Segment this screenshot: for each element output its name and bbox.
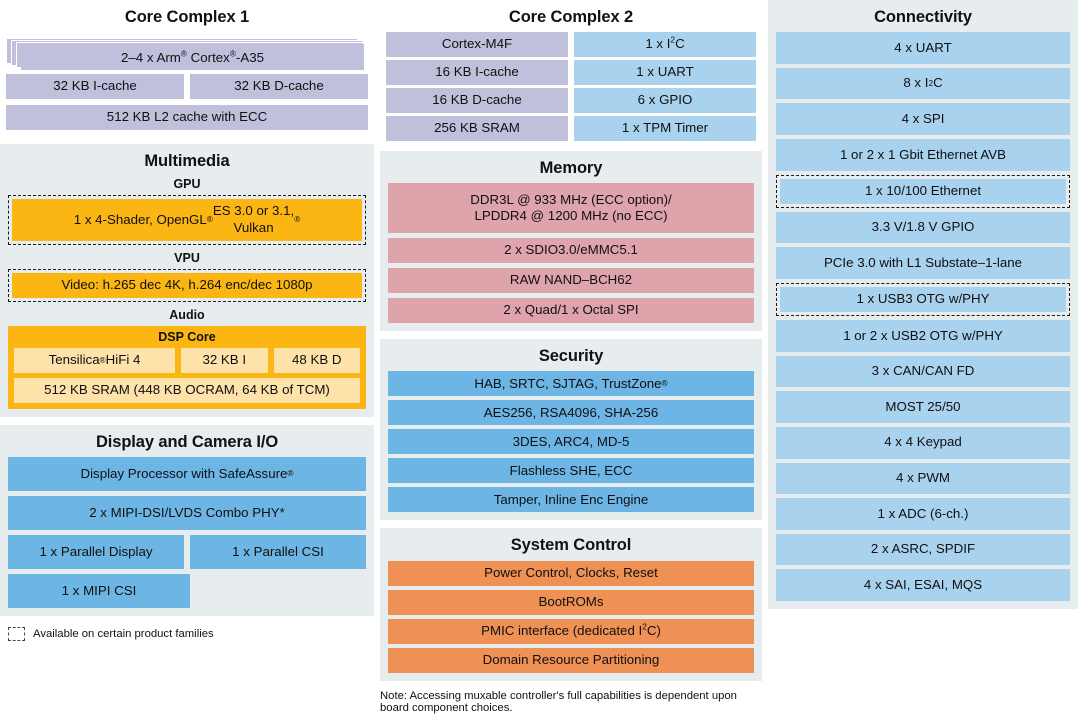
- block-label: 1 x I2C: [645, 36, 684, 53]
- dashed-wrapper-connectivity-4: 1 x 10/100 Ethernet: [776, 175, 1070, 208]
- block-bootroms: BootROMs: [388, 590, 754, 615]
- panel-title-core-complex-1: Core Complex 1: [6, 5, 368, 32]
- block-connectivity-2: 4 x SPI: [776, 103, 1070, 135]
- panel-multimedia: Multimedia GPU 1 x 4-Shader, OpenGL® ES …: [0, 144, 374, 417]
- ddr-line-2: LPDDR4 @ 1200 MHz (no ECC): [474, 208, 667, 225]
- block-cc2-uart: 1 x UART: [574, 60, 756, 85]
- panel-title-multimedia: Multimedia: [8, 149, 366, 176]
- panel-title-connectivity: Connectivity: [776, 5, 1070, 32]
- block-d-cache: 32 KB D-cache: [190, 74, 368, 99]
- block-connectivity-7: 1 x USB3 OTG w/PHY: [780, 287, 1066, 312]
- subtitle-vpu: VPU: [8, 245, 366, 269]
- block-mipi-csi: 1 x MIPI CSI: [8, 574, 190, 608]
- block-3des-arc4-md5: 3DES, ARC4, MD-5: [388, 429, 754, 454]
- dashed-wrapper-gpu: 1 x 4-Shader, OpenGL® ES 3.0 or 3.1,Vulk…: [8, 195, 366, 245]
- block-tamper-inline-enc: Tamper, Inline Enc Engine: [388, 487, 754, 512]
- block-connectivity-9: 3 x CAN/CAN FD: [776, 356, 1070, 388]
- block-connectivity-3: 1 or 2 x 1 Gbit Ethernet AVB: [776, 139, 1070, 171]
- panel-core-complex-1: Core Complex 1 2–4 x Arm® Cortex®-A35 32…: [0, 0, 374, 136]
- block-label: 2–4 x Arm® Cortex®-A35: [121, 50, 264, 65]
- connectivity-block-list: 4 x UART8 x I2C4 x SPI1 or 2 x 1 Gbit Et…: [776, 32, 1070, 601]
- block-cc2-sram: 256 KB SRAM: [386, 116, 568, 141]
- block-dsp-i-cache: 32 KB I: [181, 348, 268, 373]
- block-raw-nand: RAW NAND–BCH62: [388, 268, 754, 293]
- dashed-legend-icon: [8, 627, 25, 641]
- panel-system-control: System Control Power Control, Clocks, Re…: [380, 528, 762, 680]
- block-domain-resource-partitioning: Domain Resource Partitioning: [388, 648, 754, 673]
- block-flashless-she: Flashless SHE, ECC: [388, 458, 754, 483]
- subtitle-audio: Audio: [8, 302, 366, 326]
- block-cc2-i-cache: 16 KB I-cache: [386, 60, 568, 85]
- block-connectivity-1: 8 x I2C: [776, 68, 1070, 100]
- block-connectivity-15: 4 x SAI, ESAI, MQS: [776, 569, 1070, 601]
- block-cc2-gpio: 6 x GPIO: [574, 88, 756, 113]
- footer-legend: Available on certain product families: [0, 624, 374, 641]
- block-dsp-sram: 512 KB SRAM (448 KB OCRAM, 64 KB of TCM): [14, 378, 360, 403]
- panel-title-core-complex-2: Core Complex 2: [386, 5, 756, 32]
- panel-display-camera-io: Display and Camera I/O Display Processor…: [0, 425, 374, 616]
- block-diagram: Core Complex 1 2–4 x Arm® Cortex®-A35 32…: [0, 0, 1080, 641]
- block-pmic-interface: PMIC interface (dedicated I2C): [388, 619, 754, 644]
- group-dsp-core: DSP Core Tensilica® HiFi 4 32 KB I 48 KB…: [8, 326, 366, 410]
- block-tensilica-hifi4: Tensilica® HiFi 4: [14, 348, 175, 373]
- panel-title-system-control: System Control: [388, 533, 754, 560]
- block-display-processor: Display Processor with SafeAssure®: [8, 457, 366, 491]
- cache-row: 32 KB I-cache 32 KB D-cache: [6, 74, 368, 99]
- subtitle-dsp-core: DSP Core: [14, 328, 360, 349]
- block-l2-cache: 512 KB L2 cache with ECC: [6, 105, 368, 130]
- column-left: Core Complex 1 2–4 x Arm® Cortex®-A35 32…: [0, 0, 374, 641]
- dsp-row: Tensilica® HiFi 4 32 KB I 48 KB D: [14, 348, 360, 373]
- block-cortex-a35: 2–4 x Arm® Cortex®-A35: [21, 44, 364, 70]
- block-connectivity-8: 1 or 2 x USB2 OTG w/PHY: [776, 320, 1070, 352]
- block-connectivity-5: 3.3 V/1.8 V GPIO: [776, 212, 1070, 244]
- panel-security: Security HAB, SRTC, SJTAG, TrustZone® AE…: [380, 339, 762, 520]
- block-vpu: Video: h.265 dec 4K, h.264 enc/dec 1080p: [12, 273, 362, 298]
- block-i-cache: 32 KB I-cache: [6, 74, 184, 99]
- block-connectivity-4: 1 x 10/100 Ethernet: [780, 179, 1066, 204]
- block-quad-octal-spi: 2 x Quad/1 x Octal SPI: [388, 298, 754, 323]
- block-connectivity-0: 4 x UART: [776, 32, 1070, 64]
- column-middle: Core Complex 2 Cortex-M4F 1 x I2C 16 KB …: [380, 0, 762, 641]
- block-gpu: 1 x 4-Shader, OpenGL® ES 3.0 or 3.1,Vulk…: [12, 199, 362, 241]
- block-cortex-m4f: Cortex-M4F: [386, 32, 568, 57]
- dashed-wrapper-vpu: Video: h.265 dec 4K, h.264 enc/dec 1080p: [8, 269, 366, 302]
- panel-title-security: Security: [388, 344, 754, 371]
- footer-note: Note: Accessing muxable controller's ful…: [380, 689, 762, 713]
- cc2-row-4: 256 KB SRAM 1 x TPM Timer: [386, 116, 756, 141]
- block-power-control: Power Control, Clocks, Reset: [388, 561, 754, 586]
- panel-title-memory: Memory: [388, 156, 754, 183]
- block-cc2-d-cache: 16 KB D-cache: [386, 88, 568, 113]
- block-cc2-i2c: 1 x I2C: [574, 32, 756, 57]
- dashed-wrapper-connectivity-7: 1 x USB3 OTG w/PHY: [776, 283, 1070, 316]
- row-spacer: [196, 574, 366, 608]
- block-parallel-display: 1 x Parallel Display: [8, 535, 184, 569]
- note-text: Note: Accessing muxable controller's ful…: [380, 690, 762, 714]
- block-mipi-dsi-lvds: 2 x MIPI-DSI/LVDS Combo PHY*: [8, 496, 366, 530]
- subtitle-gpu: GPU: [8, 176, 366, 195]
- cc2-row-1: Cortex-M4F 1 x I2C: [386, 32, 756, 57]
- block-connectivity-10: MOST 25/50: [776, 391, 1070, 423]
- block-dsp-d-cache: 48 KB D: [274, 348, 361, 373]
- block-connectivity-6: PCIe 3.0 with L1 Substate–1-lane: [776, 247, 1070, 279]
- column-right: Connectivity 4 x UART8 x I2C4 x SPI1 or …: [768, 0, 1078, 641]
- block-aes-rsa-sha: AES256, RSA4096, SHA-256: [388, 400, 754, 425]
- panel-core-complex-2: Core Complex 2 Cortex-M4F 1 x I2C 16 KB …: [380, 0, 762, 143]
- legend-text: Available on certain product families: [33, 628, 214, 640]
- panel-title-display-camera-io: Display and Camera I/O: [8, 430, 366, 457]
- ddr-line-1: DDR3L @ 933 MHz (ECC option)/: [470, 192, 671, 209]
- cc2-row-3: 16 KB D-cache 6 x GPIO: [386, 88, 756, 113]
- mipi-csi-row: 1 x MIPI CSI: [8, 574, 366, 608]
- block-connectivity-13: 1 x ADC (6-ch.): [776, 498, 1070, 530]
- cc2-row-2: 16 KB I-cache 1 x UART: [386, 60, 756, 85]
- block-connectivity-11: 4 x 4 Keypad: [776, 427, 1070, 459]
- footer-right-spacer: [768, 617, 1078, 641]
- block-cc2-tpm-timer: 1 x TPM Timer: [574, 116, 756, 141]
- cortex-a35-stack: 2–4 x Arm® Cortex®-A35: [6, 38, 368, 68]
- block-ddr: DDR3L @ 933 MHz (ECC option)/ LPDDR4 @ 1…: [388, 183, 754, 233]
- block-connectivity-12: 4 x PWM: [776, 463, 1070, 495]
- display-row: 1 x Parallel Display 1 x Parallel CSI: [8, 535, 366, 569]
- block-hab-srtc: HAB, SRTC, SJTAG, TrustZone®: [388, 371, 754, 396]
- block-label: PMIC interface (dedicated I2C): [481, 623, 661, 640]
- panel-memory: Memory DDR3L @ 933 MHz (ECC option)/ LPD…: [380, 151, 762, 331]
- block-connectivity-14: 2 x ASRC, SPDIF: [776, 534, 1070, 566]
- panel-connectivity: Connectivity 4 x UART8 x I2C4 x SPI1 or …: [768, 0, 1078, 609]
- block-parallel-csi: 1 x Parallel CSI: [190, 535, 366, 569]
- block-sdio-emmc: 2 x SDIO3.0/eMMC5.1: [388, 238, 754, 263]
